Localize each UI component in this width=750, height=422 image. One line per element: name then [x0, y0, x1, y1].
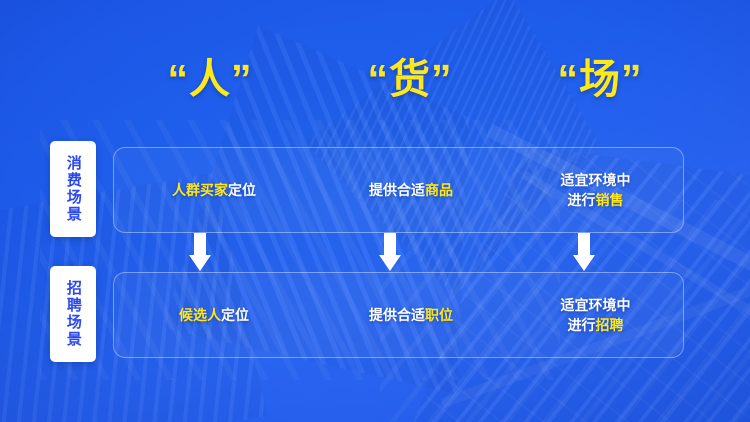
arrow-ren-down-icon [189, 233, 211, 271]
cell-consumption-huo: 提供合适商品 [314, 180, 508, 200]
cell-recruitment-chang-line2-plain: 进行 [568, 317, 596, 333]
arrow-huo-down-icon [379, 233, 401, 271]
recruitment-row: 候选人定位 提供合适职位 适宜环境中 进行招聘 [113, 272, 684, 358]
sidebar-item-recruitment-scenario: 招聘场景 [50, 266, 96, 362]
column-headers: “人” “货” “场” [110, 48, 690, 110]
cell-recruitment-huo-highlight: 职位 [425, 307, 453, 323]
cell-recruitment-chang-line2-highlight: 招聘 [596, 317, 624, 333]
arrow-shaft [384, 233, 396, 257]
arrow-head [189, 255, 211, 271]
arrow-shaft [578, 233, 590, 257]
cell-consumption-ren-plain: 定位 [228, 182, 256, 198]
cell-consumption-chang: 适宜环境中 进行销售 [508, 170, 683, 211]
sidebar-item-consumption-scenario: 消费场景 [50, 141, 96, 237]
consumption-scenario-label: 消费场景 [62, 155, 84, 223]
consumption-row: 人群买家定位 提供合适商品 适宜环境中 进行销售 [113, 147, 684, 233]
cell-recruitment-ren: 候选人定位 [114, 305, 314, 325]
cell-recruitment-ren-highlight: 候选人 [179, 307, 221, 323]
cell-consumption-chang-line2-plain: 进行 [568, 192, 596, 208]
cell-consumption-chang-line1: 适宜环境中 [508, 170, 683, 190]
cell-consumption-huo-highlight: 商品 [425, 182, 453, 198]
arrow-head [379, 255, 401, 271]
cell-recruitment-ren-plain: 定位 [221, 307, 249, 323]
arrow-shaft [194, 233, 206, 257]
cell-consumption-chang-line2-highlight: 销售 [596, 192, 624, 208]
cell-consumption-ren: 人群买家定位 [114, 180, 314, 200]
arrow-head [573, 255, 595, 271]
cell-recruitment-chang-line2: 进行招聘 [508, 315, 683, 335]
cell-recruitment-huo-plain: 提供合适 [369, 307, 425, 323]
recruitment-scenario-label: 招聘场景 [62, 280, 84, 348]
header-ren: “人” [110, 59, 310, 100]
cell-recruitment-huo: 提供合适职位 [314, 305, 508, 325]
header-chang: “场” [510, 59, 690, 100]
cell-recruitment-chang-line1: 适宜环境中 [508, 295, 683, 315]
cell-consumption-chang-line2: 进行销售 [508, 190, 683, 210]
arrow-chang-down-icon [573, 233, 595, 271]
cell-consumption-ren-highlight: 人群买家 [172, 182, 228, 198]
slide-canvas: “人” “货” “场” 消费场景 招聘场景 人群买家定位 提供合适商品 适宜环境… [0, 0, 750, 422]
header-huo: “货” [310, 59, 510, 100]
cell-consumption-huo-plain: 提供合适 [369, 182, 425, 198]
cell-recruitment-chang: 适宜环境中 进行招聘 [508, 295, 683, 336]
